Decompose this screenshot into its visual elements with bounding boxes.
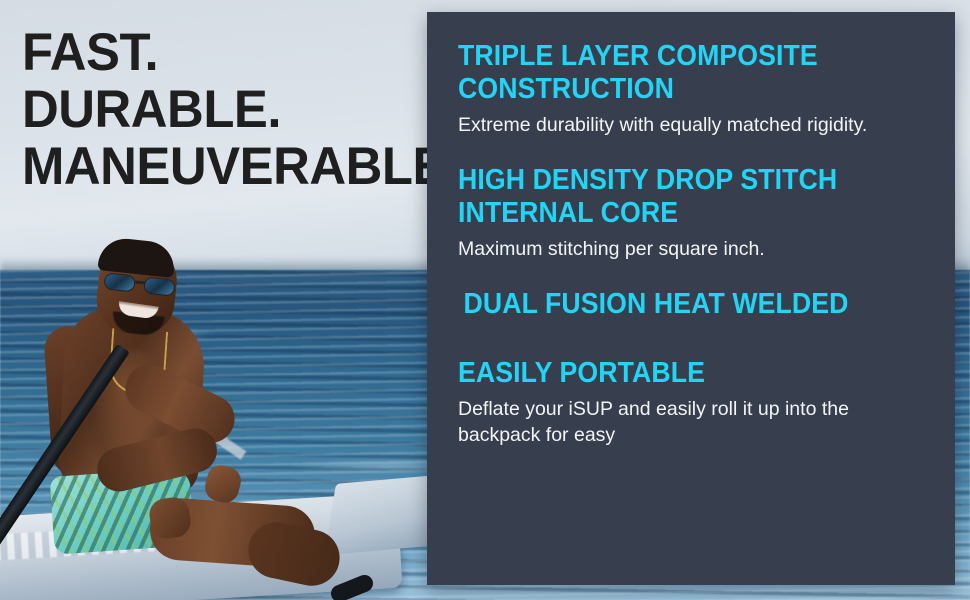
headline-line-2: DURABLE. — [22, 81, 396, 138]
feature-item-easily-portable: EASILY PORTABLE Deflate your iSUP and ea… — [458, 357, 931, 448]
paddler-lower-leg — [243, 517, 345, 591]
feature-description: Deflate your iSUP and easily roll it up … — [458, 396, 931, 448]
feature-description: Maximum stitching per square inch. — [458, 236, 931, 262]
paddler-upper-hand — [202, 462, 244, 505]
feature-title-line-1: DUAL FUSION HEAT WELDED — [464, 288, 849, 320]
feature-title-line-1: EASILY PORTABLE — [458, 357, 705, 389]
feature-title-line-2: CONSTRUCTION — [458, 73, 674, 105]
headline: FAST. DURABLE. MANEUVERABLE. — [22, 24, 396, 195]
feature-item-dual-fusion-heat-welded: DUAL FUSION HEAT WELDED — [458, 288, 931, 321]
feature-title-line-2: INTERNAL CORE — [458, 197, 678, 229]
feature-item-high-density-drop-stitch-internal-core: HIGH DENSITY DROP STITCH INTERNAL CORE M… — [458, 164, 931, 262]
feature-title: HIGH DENSITY DROP STITCH INTERNAL CORE — [458, 164, 893, 230]
headline-line-3: MANEUVERABLE. — [22, 138, 396, 195]
paddler-figure — [0, 230, 440, 600]
feature-title: EASILY PORTABLE — [458, 357, 893, 390]
sunglasses-right-lens — [143, 276, 176, 296]
feature-title-line-1: TRIPLE LAYER COMPOSITE — [458, 40, 818, 72]
feature-item-triple-layer-composite-construction: TRIPLE LAYER COMPOSITE CONSTRUCTION Extr… — [458, 40, 931, 138]
headline-line-1: FAST. — [22, 24, 396, 81]
feature-title: TRIPLE LAYER COMPOSITE CONSTRUCTION — [458, 40, 893, 106]
sunglasses-left-lens — [103, 272, 136, 292]
feature-list: TRIPLE LAYER COMPOSITE CONSTRUCTION Extr… — [427, 12, 955, 585]
product-feature-banner: FAST. DURABLE. MANEUVERABLE. TRIPLE LAYE… — [0, 0, 970, 600]
feature-description: Extreme durability with equally matched … — [458, 112, 931, 138]
feature-panel: TRIPLE LAYER COMPOSITE CONSTRUCTION Extr… — [427, 12, 955, 585]
feature-title: DUAL FUSION HEAT WELDED — [458, 288, 893, 321]
feature-title-line-1: HIGH DENSITY DROP STITCH — [458, 164, 837, 196]
paddle-t-handle — [328, 572, 375, 600]
